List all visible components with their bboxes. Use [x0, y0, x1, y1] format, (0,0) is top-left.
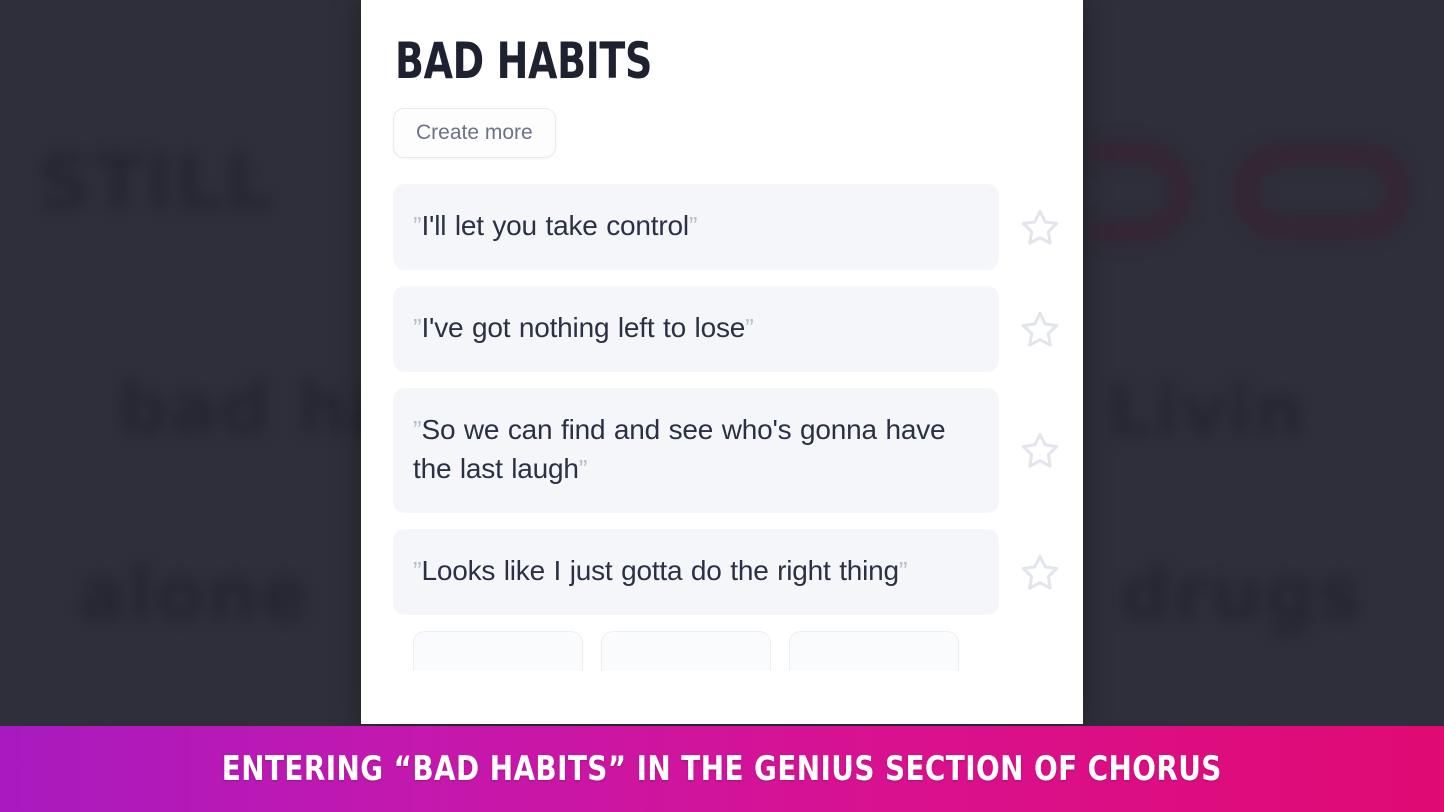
list-item: ”I've got nothing left to lose” [393, 286, 1055, 372]
lyric-card[interactable]: ”I'll let you take control” [393, 184, 999, 270]
backdrop-word-right-2: Livin [1108, 370, 1306, 452]
list-item: ”I'll let you take control” [393, 184, 1055, 270]
chip-peek[interactable] [601, 631, 771, 671]
panel-content: BAD HABITS Create more ”I'll let you tak… [361, 0, 1083, 671]
backdrop-shape-left-arc [1092, 146, 1188, 238]
lyric-card[interactable]: ”Looks like I just gotta do the right th… [393, 529, 999, 615]
star-outline-icon[interactable] [1017, 204, 1063, 250]
chip-peek[interactable] [789, 631, 959, 671]
lyric-line: I've got nothing left to lose [421, 312, 745, 343]
chip-peek[interactable] [413, 631, 583, 671]
partially-visible-chip-row [393, 631, 1055, 671]
backdrop-word-right-3: drugs [1120, 552, 1363, 636]
caption-text: ENTERING “BAD HABITS” IN THE GENIUS SECT… [222, 749, 1222, 789]
quote-close-icon: ” [579, 454, 587, 484]
lyric-line: So we can find and see who's gonna have … [413, 414, 945, 485]
list-item: ”So we can find and see who's gonna have… [393, 388, 1055, 514]
quote-close-icon: ” [745, 313, 753, 343]
lyrics-list: ”I'll let you take control” ”I've got no… [393, 184, 1055, 671]
create-more-button[interactable]: Create more [393, 108, 556, 158]
star-outline-icon[interactable] [1017, 427, 1063, 473]
backdrop-word-left-1: STILL [38, 140, 274, 226]
backdrop-word-left-3: alone [78, 552, 311, 636]
quote-close-icon: ” [689, 211, 697, 241]
page-title: BAD HABITS [395, 36, 897, 86]
star-outline-icon[interactable] [1017, 549, 1063, 595]
lyric-text: ”I'll let you take control” [413, 206, 975, 246]
list-item: ”Looks like I just gotta do the right th… [393, 529, 1055, 615]
lyric-line: Looks like I just gotta do the right thi… [421, 555, 898, 586]
screenshot-root: STILL bad habits alone Livin drugs BAD H… [0, 0, 1444, 812]
backdrop-shape-right-pill [1238, 148, 1406, 234]
lyric-card[interactable]: ”I've got nothing left to lose” [393, 286, 999, 372]
quote-close-icon: ” [899, 556, 907, 586]
star-outline-icon[interactable] [1017, 306, 1063, 352]
lyric-text: ”So we can find and see who's gonna have… [413, 410, 975, 490]
lyric-card[interactable]: ”So we can find and see who's gonna have… [393, 388, 999, 514]
app-panel: BAD HABITS Create more ”I'll let you tak… [361, 0, 1083, 724]
lyric-text: ”I've got nothing left to lose” [413, 308, 975, 348]
caption-bar: ENTERING “BAD HABITS” IN THE GENIUS SECT… [0, 726, 1444, 812]
lyric-text: ”Looks like I just gotta do the right th… [413, 551, 975, 591]
lyric-line: I'll let you take control [421, 210, 688, 241]
